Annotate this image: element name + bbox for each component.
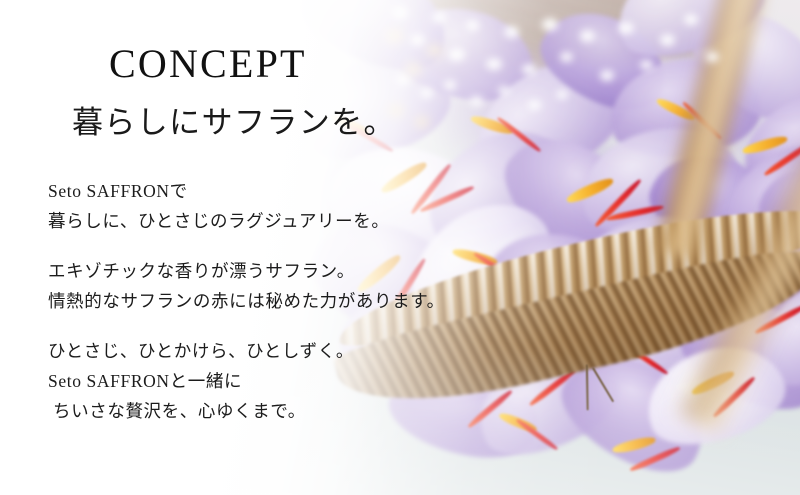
paragraph: エキゾチックな香りが漂うサフラン。情熱的なサフランの赤には秘めた力があります。 [48,256,478,316]
text-line: 暮らしに、ひとさじのラグジュアリーを。 [48,206,478,236]
paragraph: Seto SAFFRONで暮らしに、ひとさじのラグジュアリーを。 [48,176,478,236]
page-title: CONCEPT [109,44,307,84]
page-subtitle: 暮らしにサフランを。 [72,104,396,141]
concept-body-text: Seto SAFFRONで暮らしに、ひとさじのラグジュアリーを。エキゾチックな香… [48,176,478,426]
text-line: 情熱的なサフランの赤には秘めた力があります。 [48,286,478,316]
paragraph: ひとさじ、ひとかけら、ひとしずく。Seto SAFFRONと一緒にちいさな贅沢を… [48,336,478,426]
text-line: Seto SAFFRONと一緒に [48,366,478,396]
concept-copy: CONCEPT 暮らしにサフランを。 Seto SAFFRONで暮らしに、ひとさ… [0,0,800,495]
text-line: エキゾチックな香りが漂うサフラン。 [48,256,478,286]
concept-hero-section: CONCEPT 暮らしにサフランを。 Seto SAFFRONで暮らしに、ひとさ… [0,0,800,495]
text-line: Seto SAFFRONで [48,176,478,206]
text-line: ちいさな贅沢を、心ゆくまで。 [48,396,478,426]
text-line: ひとさじ、ひとかけら、ひとしずく。 [48,336,478,366]
